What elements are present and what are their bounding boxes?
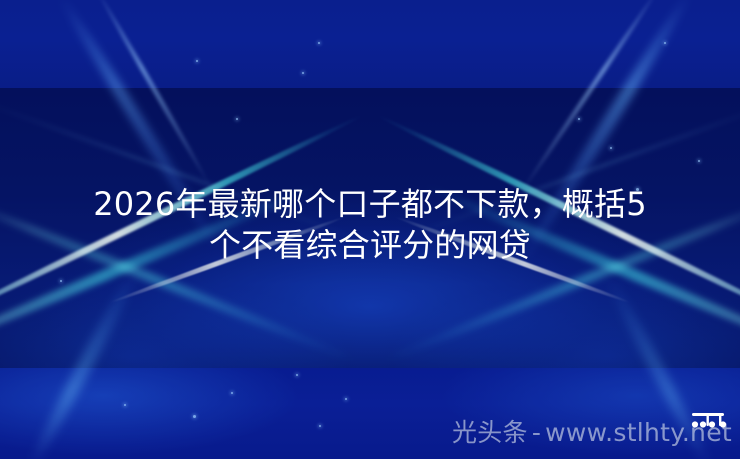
watermark-url: www.stlhty.net <box>545 420 732 445</box>
background-band-top <box>0 0 740 88</box>
banner-title-line-1: 2026年最新哪个口子都不下款，概括5 <box>14 184 726 225</box>
watermark-separator: - <box>532 420 541 445</box>
article-cover-banner: 2026年最新哪个口子都不下款，概括5 个不看综合评分的网贷 光头条 - www… <box>0 0 740 459</box>
banner-title-line-2: 个不看综合评分的网贷 <box>14 225 726 266</box>
site-watermark: 光头条 - www.stlhty.net <box>452 420 732 445</box>
watermark-site-name: 光头条 <box>452 420 528 445</box>
banner-title: 2026年最新哪个口子都不下款，概括5 个不看综合评分的网贷 <box>0 184 740 266</box>
